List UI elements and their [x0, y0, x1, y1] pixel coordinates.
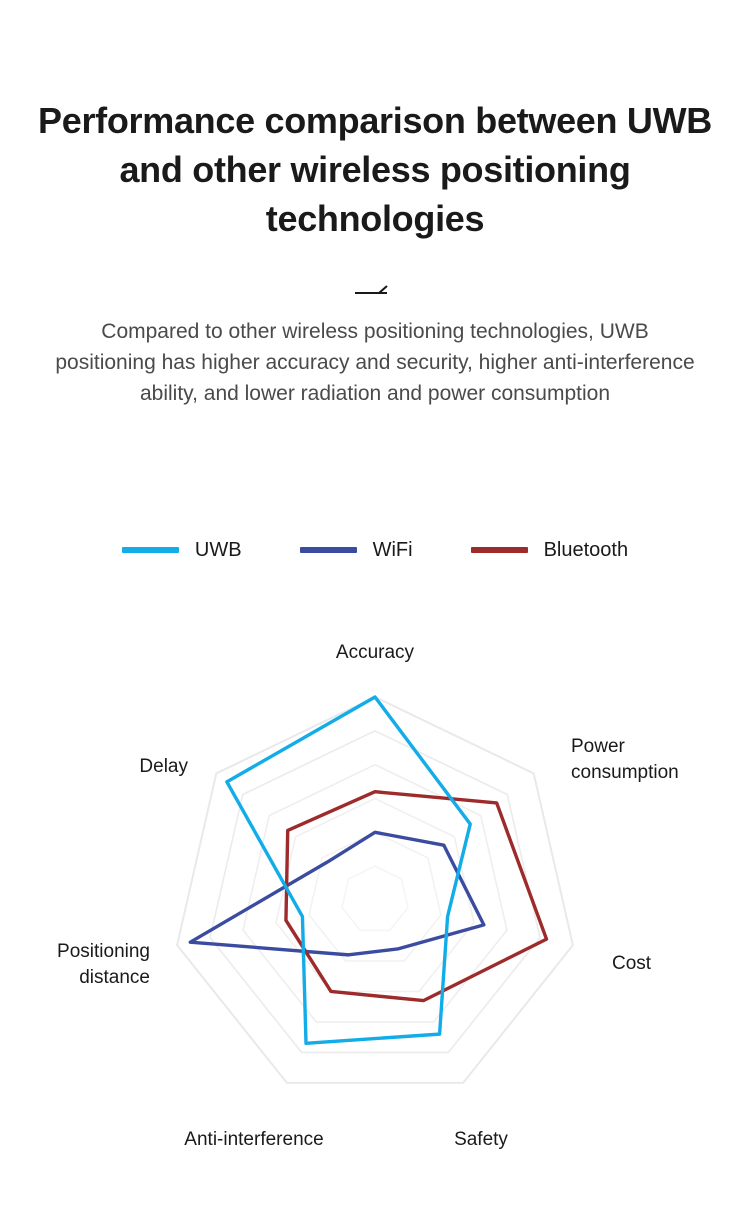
- radar-chart-svg: AccuracyPowerconsumptionCostSafetyAnti-i…: [0, 612, 750, 1202]
- legend-swatch-wifi: [300, 547, 357, 553]
- axis-label-cost: Cost: [612, 953, 652, 974]
- header: Performance comparison between UWB and o…: [0, 96, 750, 243]
- chart-legend: UWB WiFi Bluetooth: [0, 540, 750, 560]
- legend-label-uwb: UWB: [195, 540, 242, 560]
- axis-label-delay: Delay: [139, 756, 188, 777]
- radar-grid-ring-1: [342, 866, 408, 930]
- radar-grid-ring-5: [210, 731, 540, 1053]
- legend-swatch-bluetooth: [471, 547, 528, 553]
- axis-label-accuracy: Accuracy: [336, 642, 415, 663]
- legend-item-uwb[interactable]: UWB: [122, 540, 242, 560]
- axis-label-power-consumption: Powerconsumption: [571, 736, 679, 783]
- axis-label-anti-interference: Anti-interference: [184, 1129, 323, 1150]
- axis-label-safety: Safety: [454, 1129, 508, 1150]
- legend-swatch-uwb: [122, 547, 179, 553]
- arrow-line-divider-icon: [353, 279, 397, 299]
- radar-chart: AccuracyPowerconsumptionCostSafetyAnti-i…: [0, 612, 750, 1202]
- page-root: Performance comparison between UWB and o…: [0, 0, 750, 1209]
- legend-label-wifi: WiFi: [373, 540, 413, 560]
- legend-item-wifi[interactable]: WiFi: [300, 540, 413, 560]
- radar-grid-ring-6: [177, 697, 573, 1083]
- divider: [0, 276, 750, 302]
- page-title: Performance comparison between UWB and o…: [0, 96, 750, 243]
- radar-axis-labels: AccuracyPowerconsumptionCostSafetyAnti-i…: [57, 642, 679, 1150]
- page-subtitle: Compared to other wireless positioning t…: [55, 316, 695, 409]
- radar-grid: [177, 697, 573, 1083]
- axis-label-positioning-distance: Positioningdistance: [57, 941, 150, 988]
- legend-item-bluetooth[interactable]: Bluetooth: [471, 540, 629, 560]
- legend-label-bluetooth: Bluetooth: [544, 540, 629, 560]
